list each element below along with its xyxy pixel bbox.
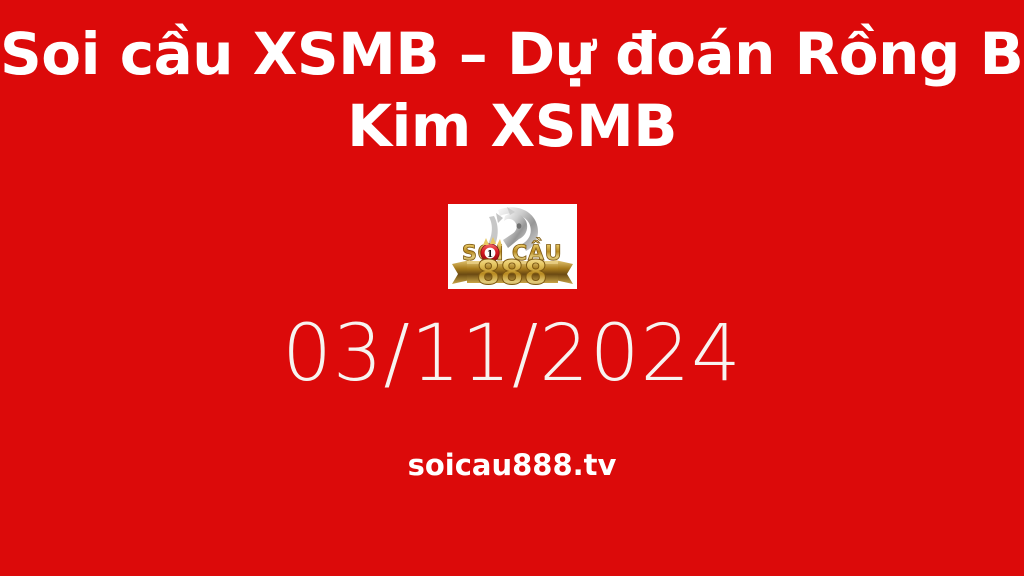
soicau888-logo-icon: SOI CẦU 1 888 <box>448 204 577 289</box>
promo-banner: Soi cầu XSMB – Dự đoán Rồng Bạch Kim XSM… <box>0 0 1024 576</box>
title-line-1: Soi cầu XSMB – Dự đoán Rồng Bạch <box>0 18 1024 90</box>
svg-text:888: 888 <box>477 253 548 289</box>
site-footer: soicau888.tv <box>0 446 1024 484</box>
title-line-2: Kim XSMB <box>0 90 1024 162</box>
draw-date-value: 03/11/2024 <box>282 309 742 399</box>
888-wordmark: 888 <box>477 253 548 289</box>
brand-logo-card: SOI CẦU 1 888 <box>448 204 577 289</box>
draw-date: 03/11/2024 <box>0 306 1024 402</box>
site-url[interactable]: soicau888.tv <box>408 448 617 482</box>
page-title: Soi cầu XSMB – Dự đoán Rồng Bạch Kim XSM… <box>0 18 1024 162</box>
